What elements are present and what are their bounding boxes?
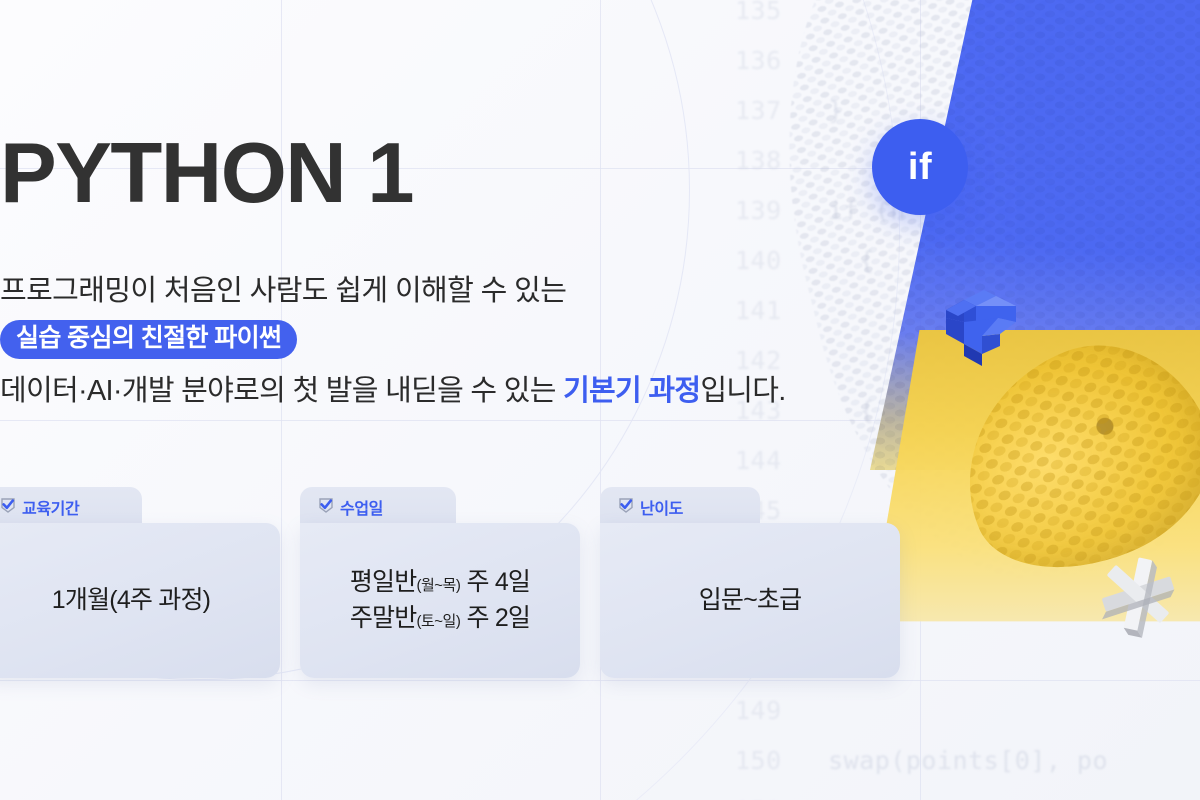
check-icon <box>618 497 634 518</box>
info-card-value: 평일반(월~목) 주 4일 주말반(토~일) 주 2일 <box>350 565 530 636</box>
code-line-number: 137 <box>735 86 797 136</box>
code-line-text: swap(points[0], po <box>797 746 1108 775</box>
info-card-body: 평일반(월~목) 주 4일 주말반(토~일) 주 2일 <box>300 523 580 678</box>
info-card-duration: 교육기간 1개월(4주 과정) <box>0 487 280 678</box>
info-card-tab-label: 난이도 <box>640 495 683 519</box>
subtitle-line-1: 프로그래밍이 처음인 사람도 쉽게 이해할 수 있는 <box>0 267 566 309</box>
info-card-body: 입문~초급 <box>600 523 900 678</box>
weekend-class-range: (토~일) <box>416 613 460 630</box>
subtitle-line-2-highlight: 기본기 과정 <box>563 375 700 407</box>
code-line: 150 swap(points[0], po <box>735 736 1200 786</box>
subtitle-line-2-suffix: 입니다. <box>700 375 785 407</box>
info-card-value: 입문~초급 <box>699 583 802 619</box>
hero-banner: 135136137 }138139 if (n > 3) {140 {14114… <box>0 0 1200 800</box>
info-card-body: 1개월(4주 과정) <box>0 523 280 678</box>
code-line-number: 139 <box>735 186 797 236</box>
weekend-class-name: 주말반 <box>350 604 417 632</box>
check-icon <box>318 497 334 518</box>
code-line: 151 <box>735 786 1200 800</box>
code-line-number: 144 <box>735 436 797 486</box>
code-line-number: 141 <box>735 286 797 336</box>
info-card-tab-label: 수업일 <box>340 495 383 519</box>
code-line-number: 149 <box>735 686 797 736</box>
weekday-class-range: (월~목) <box>416 577 460 594</box>
check-icon <box>0 497 16 518</box>
code-line-number: 136 <box>735 36 797 86</box>
code-line-number: 138 <box>735 136 797 186</box>
if-badge: if <box>872 119 968 215</box>
code-line-number: 150 <box>735 736 797 786</box>
asterisk-3d-icon <box>1092 548 1184 640</box>
weekday-class-name: 평일반 <box>350 568 417 596</box>
plus-3d-icon <box>938 288 1022 368</box>
info-card-tab: 난이도 <box>600 487 760 527</box>
code-line: 149 <box>735 686 1200 736</box>
if-badge-label: if <box>908 146 932 189</box>
code-line-number: 135 <box>735 0 797 36</box>
weekend-class-count: 주 2일 <box>460 604 530 632</box>
info-card-difficulty: 난이도 입문~초급 <box>600 487 900 678</box>
page-title: PYTHON 1 <box>0 131 413 216</box>
highlight-pill-label: 실습 중심의 친절한 파이썬 <box>16 324 281 352</box>
info-card-value: 1개월(4주 과정) <box>52 583 210 619</box>
subtitle-line-2-prefix: 데이터·AI·개발 분야로의 첫 발을 내딛을 수 있는 <box>0 375 563 407</box>
code-line-number: 140 <box>735 236 797 286</box>
info-card-tab-label: 교육기간 <box>22 495 79 519</box>
info-card-tab: 수업일 <box>300 487 456 527</box>
info-card-class-days: 수업일 평일반(월~목) 주 4일 주말반(토~일) 주 2일 <box>300 487 580 678</box>
highlight-pill: 실습 중심의 친절한 파이썬 <box>0 320 297 359</box>
weekday-class-count: 주 4일 <box>460 568 530 596</box>
code-line-number: 151 <box>735 786 797 800</box>
info-card-tab: 교육기간 <box>0 487 142 527</box>
subtitle-line-2: 데이터·AI·개발 분야로의 첫 발을 내딛을 수 있는 기본기 과정입니다. <box>0 367 786 409</box>
